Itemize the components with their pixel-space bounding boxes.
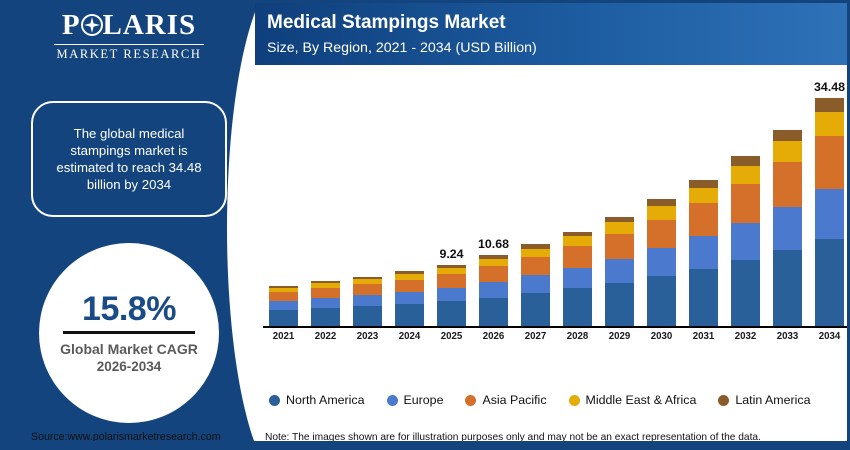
bar-segment[interactable] [773, 141, 802, 162]
x-axis-tick: 2033 [773, 331, 802, 351]
infographic-root: P LARIS MARKET RESEARCH The global medic… [0, 0, 850, 450]
stacked-bar[interactable] [521, 244, 550, 326]
bar-segment[interactable] [521, 257, 550, 275]
cagr-circle: 15.8% Global Market CAGR 2026-2034 [39, 243, 219, 423]
stacked-bar[interactable] [269, 286, 298, 326]
bar-value-label: 34.48 [814, 80, 845, 94]
x-axis-tick: 2032 [731, 331, 760, 351]
bar-segment[interactable] [815, 239, 844, 326]
bar-segment[interactable] [479, 282, 508, 298]
brand-name-suffix: LARIS [103, 9, 197, 41]
bar-segment[interactable] [815, 136, 844, 189]
cagr-label-primary: Global Market CAGR [60, 340, 198, 358]
chart-baseline [263, 326, 848, 328]
bar-segment[interactable] [311, 298, 340, 308]
bar-segment[interactable] [689, 203, 718, 237]
bottom-band [3, 441, 850, 447]
bar-group[interactable] [269, 73, 298, 326]
bar-segment[interactable] [563, 288, 592, 326]
bar-segment[interactable] [395, 292, 424, 304]
legend-color-swatch-icon [387, 395, 398, 406]
bar-segment[interactable] [521, 275, 550, 293]
bar-segment[interactable] [479, 259, 508, 266]
legend-item[interactable]: Middle East & Africa [569, 393, 697, 407]
bar-segment[interactable] [353, 284, 382, 295]
bar-group[interactable]: 10.68 [479, 73, 508, 326]
page-subtitle: Size, By Region, 2021 - 2034 (USD Billio… [267, 39, 850, 57]
page-title: Medical Stampings Market [267, 11, 850, 35]
x-axis-tick: 2022 [311, 331, 340, 351]
bar-segment[interactable] [689, 236, 718, 268]
bar-segment[interactable] [353, 306, 382, 326]
bar-segment[interactable] [563, 246, 592, 267]
legend-label: Middle East & Africa [586, 393, 697, 407]
bar-segment[interactable] [479, 266, 508, 282]
bar-segment[interactable] [773, 207, 802, 250]
stacked-bar[interactable] [731, 156, 760, 326]
x-axis-tick: 2028 [563, 331, 592, 351]
stacked-bar[interactable] [815, 98, 844, 326]
legend-item[interactable]: Latin America [718, 393, 810, 407]
cagr-value: 15.8% [82, 290, 176, 328]
bar-segment[interactable] [773, 250, 802, 326]
bar-segment[interactable] [437, 288, 466, 301]
bar-group[interactable]: 9.24 [437, 73, 466, 326]
bar-segment[interactable] [521, 293, 550, 326]
cagr-label-period: 2026-2034 [97, 358, 162, 376]
bar-segment[interactable] [353, 295, 382, 306]
bar-segment[interactable] [395, 280, 424, 292]
legend-color-swatch-icon [269, 395, 280, 406]
bar-segment[interactable] [479, 298, 508, 326]
x-axis-tick: 2034 [815, 331, 844, 351]
bar-value-label: 10.68 [478, 237, 509, 251]
bar-segment[interactable] [605, 283, 634, 326]
bar-group[interactable] [647, 73, 676, 326]
bar-segment[interactable] [269, 310, 298, 326]
stacked-bar[interactable] [437, 265, 466, 326]
x-axis-tick: 2031 [689, 331, 718, 351]
brand-divider [54, 44, 204, 45]
bar-group[interactable] [731, 73, 760, 326]
bar-segment[interactable] [269, 292, 298, 301]
legend-color-swatch-icon [569, 395, 580, 406]
chart-legend: North AmericaEuropeAsia PacificMiddle Ea… [261, 389, 850, 411]
brand-logo: P LARIS MARKET RESEARCH [3, 9, 255, 62]
bar-segment[interactable] [647, 206, 676, 219]
bar-segment[interactable] [563, 268, 592, 289]
legend-label: Asia Pacific [482, 393, 546, 407]
bar-segment[interactable] [815, 98, 844, 112]
star-icon [81, 14, 103, 36]
bar-segment[interactable] [269, 301, 298, 310]
bar-segment[interactable] [731, 260, 760, 326]
header-band: Medical Stampings Market Size, By Region… [255, 3, 850, 65]
bar-group[interactable] [521, 73, 550, 326]
bar-segment[interactable] [731, 166, 760, 184]
bar-group[interactable] [563, 73, 592, 326]
bar-group[interactable] [311, 73, 340, 326]
x-axis-tick: 2029 [605, 331, 634, 351]
bar-group[interactable] [395, 73, 424, 326]
stacked-bar[interactable] [773, 130, 802, 326]
bar-segment[interactable] [773, 130, 802, 141]
bar-segment[interactable] [563, 236, 592, 246]
x-axis-tick: 2025 [437, 331, 466, 351]
brand-tagline: MARKET RESEARCH [3, 47, 255, 62]
bar-segment[interactable] [437, 301, 466, 326]
legend-label: Latin America [735, 393, 810, 407]
callout-text: The global medical stampings market is e… [43, 125, 215, 193]
bar-segment[interactable] [647, 220, 676, 249]
bar-segment[interactable] [689, 188, 718, 203]
bar-series-container: 9.2410.6834.48 [269, 73, 844, 326]
bar-group[interactable] [605, 73, 634, 326]
legend-item[interactable]: Asia Pacific [465, 393, 546, 407]
legend-color-swatch-icon [465, 395, 476, 406]
stacked-bar[interactable] [605, 217, 634, 326]
legend-item[interactable]: North America [269, 393, 365, 407]
stacked-bar[interactable] [353, 277, 382, 326]
brand-name-prefix: P [62, 9, 81, 41]
bar-group[interactable] [353, 73, 382, 326]
x-axis-tick: 2024 [395, 331, 424, 351]
left-panel: P LARIS MARKET RESEARCH The global medic… [3, 3, 255, 447]
brand-wordmark: P LARIS [3, 9, 255, 41]
legend-color-swatch-icon [718, 395, 729, 406]
bar-group[interactable] [773, 73, 802, 326]
stacked-bar[interactable] [479, 255, 508, 326]
bar-segment[interactable] [773, 162, 802, 208]
bar-segment[interactable] [395, 304, 424, 326]
chart-area: 9.2410.6834.48 2021202220232024202520262… [255, 65, 850, 355]
stacked-bar[interactable] [647, 199, 676, 326]
legend-label: North America [286, 393, 365, 407]
stacked-bar[interactable] [563, 232, 592, 326]
bar-segment[interactable] [647, 199, 676, 206]
bar-segment[interactable] [731, 223, 760, 260]
bar-segment[interactable] [731, 184, 760, 223]
bar-segment[interactable] [647, 248, 676, 276]
bar-segment[interactable] [731, 156, 760, 166]
stacked-bar[interactable] [311, 281, 340, 326]
bar-segment[interactable] [605, 234, 634, 259]
bar-segment[interactable] [605, 222, 634, 233]
panel-curve-notch [227, 3, 255, 447]
bar-segment[interactable] [815, 189, 844, 239]
callout-box: The global medical stampings market is e… [31, 101, 227, 217]
x-axis-tick: 2026 [479, 331, 508, 351]
legend-item[interactable]: Europe [387, 393, 444, 407]
bar-segment[interactable] [815, 112, 844, 136]
bar-segment[interactable] [689, 269, 718, 326]
bar-group[interactable] [689, 73, 718, 326]
bar-segment[interactable] [521, 249, 550, 257]
legend-label: Europe [404, 393, 444, 407]
x-axis-tick: 2030 [647, 331, 676, 351]
stacked-bar[interactable] [395, 271, 424, 326]
x-axis-labels: 2021202220232024202520262027202820292030… [269, 331, 844, 351]
bar-segment[interactable] [437, 274, 466, 287]
x-axis-tick: 2027 [521, 331, 550, 351]
bar-group[interactable]: 34.48 [815, 73, 844, 326]
bar-segment[interactable] [311, 288, 340, 298]
cagr-divider [63, 331, 195, 334]
bar-segment[interactable] [689, 180, 718, 188]
bar-segment[interactable] [647, 276, 676, 326]
bar-value-label: 9.24 [439, 247, 463, 261]
x-axis-tick: 2023 [353, 331, 382, 351]
x-axis-tick: 2021 [269, 331, 298, 351]
stacked-bar[interactable] [689, 179, 718, 326]
bar-segment[interactable] [311, 308, 340, 326]
bar-segment[interactable] [605, 259, 634, 283]
